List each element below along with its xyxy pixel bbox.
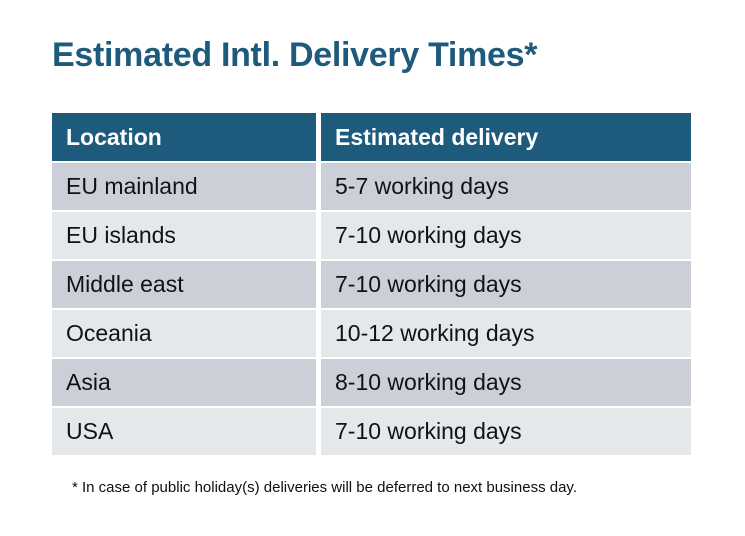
table-row: Oceania 10-12 working days <box>52 310 691 357</box>
table-header-row: Location Estimated delivery <box>52 113 691 161</box>
cell-estimated-delivery: 10-12 working days <box>321 310 691 357</box>
column-header-estimated-delivery: Estimated delivery <box>321 113 691 161</box>
cell-location: EU islands <box>52 212 316 259</box>
cell-estimated-delivery: 7-10 working days <box>321 212 691 259</box>
table-row: Middle east 7-10 working days <box>52 261 691 308</box>
cell-estimated-delivery: 8-10 working days <box>321 359 691 406</box>
table-row: USA 7-10 working days <box>52 408 691 455</box>
cell-location: USA <box>52 408 316 455</box>
cell-estimated-delivery: 7-10 working days <box>321 408 691 455</box>
cell-location: Asia <box>52 359 316 406</box>
delivery-times-page: Estimated Intl. Delivery Times* Location… <box>0 0 745 536</box>
table-row: EU mainland 5-7 working days <box>52 163 691 210</box>
column-header-location: Location <box>52 113 316 161</box>
cell-location: Oceania <box>52 310 316 357</box>
delivery-times-table: Location Estimated delivery EU mainland … <box>52 113 691 455</box>
cell-location: EU mainland <box>52 163 316 210</box>
table-row: Asia 8-10 working days <box>52 359 691 406</box>
footnote: * In case of public holiday(s) deliverie… <box>72 479 577 496</box>
cell-location: Middle east <box>52 261 316 308</box>
page-title: Estimated Intl. Delivery Times* <box>52 36 537 75</box>
table-row: EU islands 7-10 working days <box>52 212 691 259</box>
cell-estimated-delivery: 5-7 working days <box>321 163 691 210</box>
cell-estimated-delivery: 7-10 working days <box>321 261 691 308</box>
